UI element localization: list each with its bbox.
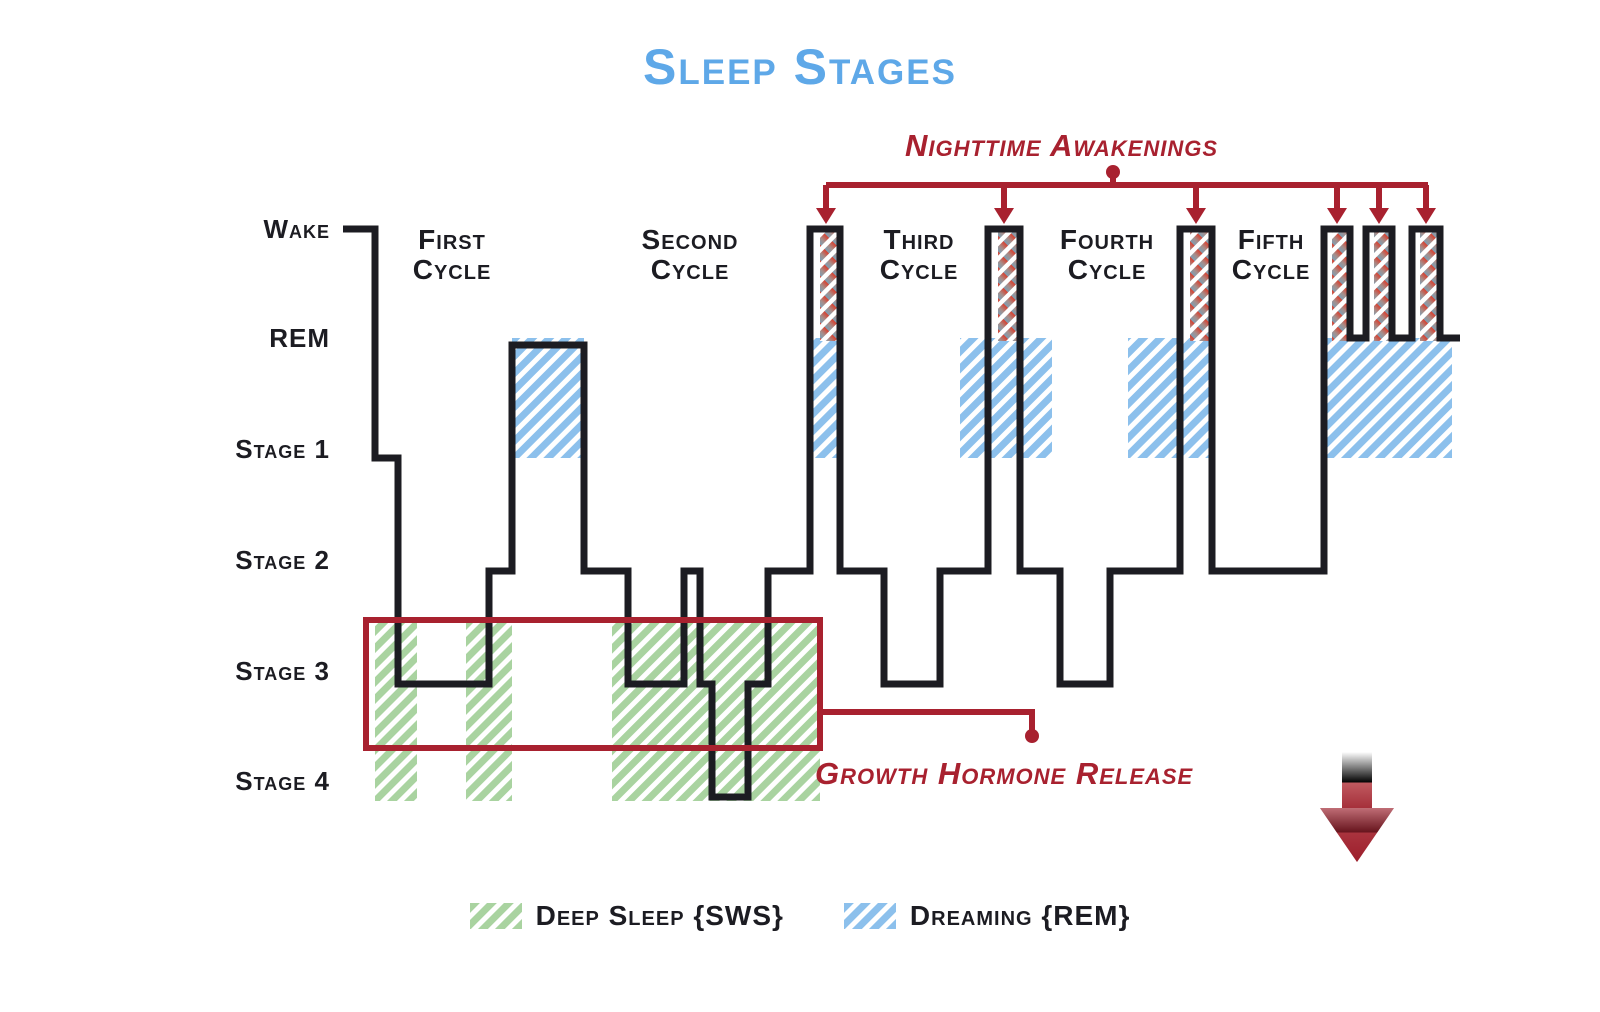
axis-label-wake: Wake [90,214,330,245]
axis-label-stage-4: Stage 4 [90,766,330,797]
cycle-label-fourth-line1: Fourth [1027,225,1187,255]
cycle-label-first: First Cycle [352,225,552,285]
nighttime-awakenings-bracket [816,165,1436,224]
cycle-label-first-line1: First [352,225,552,255]
legend-label-deep-sleep: Deep Sleep {SWS} [536,900,784,932]
legend: Deep Sleep {SWS} Dreaming {REM} [0,900,1600,932]
cycle-label-second-line2: Cycle [590,255,790,285]
cycle-label-third: Third Cycle [849,225,989,285]
axis-label-stage-2: Stage 2 [90,545,330,576]
hypnogram-graphic [0,0,1600,1012]
sleep-stages-chart: Sleep Stages [0,0,1600,1012]
legend-item-dreaming: Dreaming {REM} [844,900,1130,932]
cycle-label-fifth-line2: Cycle [1211,255,1331,285]
cycle-label-fourth-line2: Cycle [1027,255,1187,285]
dreaming-swatch-icon [844,903,896,929]
annotation-nighttime-awakenings: Nighttime Awakenings [905,128,1218,164]
cycle-label-first-line2: Cycle [352,255,552,285]
cycle-label-third-line1: Third [849,225,989,255]
annotation-growth-hormone-release: Growth Hormone Release [815,756,1193,792]
legend-item-deep-sleep: Deep Sleep {SWS} [470,900,784,932]
cycle-label-fifth: Fifth Cycle [1211,225,1331,285]
cycle-label-second: Second Cycle [590,225,790,285]
cycle-label-fourth: Fourth Cycle [1027,225,1187,285]
cycle-label-third-line2: Cycle [849,255,989,285]
axis-label-stage-1: Stage 1 [90,434,330,465]
rem-fill-blocks [512,338,1452,458]
legend-label-dreaming: Dreaming {REM} [910,900,1130,932]
deep-sleep-swatch-icon [470,903,522,929]
axis-label-stage-3: Stage 3 [90,656,330,687]
deep-sleep-fill-bands [375,621,820,801]
awakening-arrowheads [816,208,1436,224]
cycle-label-fifth-line1: Fifth [1211,225,1331,255]
axis-label-rem: REM [90,323,330,354]
growth-hormone-down-arrow [1320,752,1394,862]
cycle-label-second-line1: Second [590,225,790,255]
